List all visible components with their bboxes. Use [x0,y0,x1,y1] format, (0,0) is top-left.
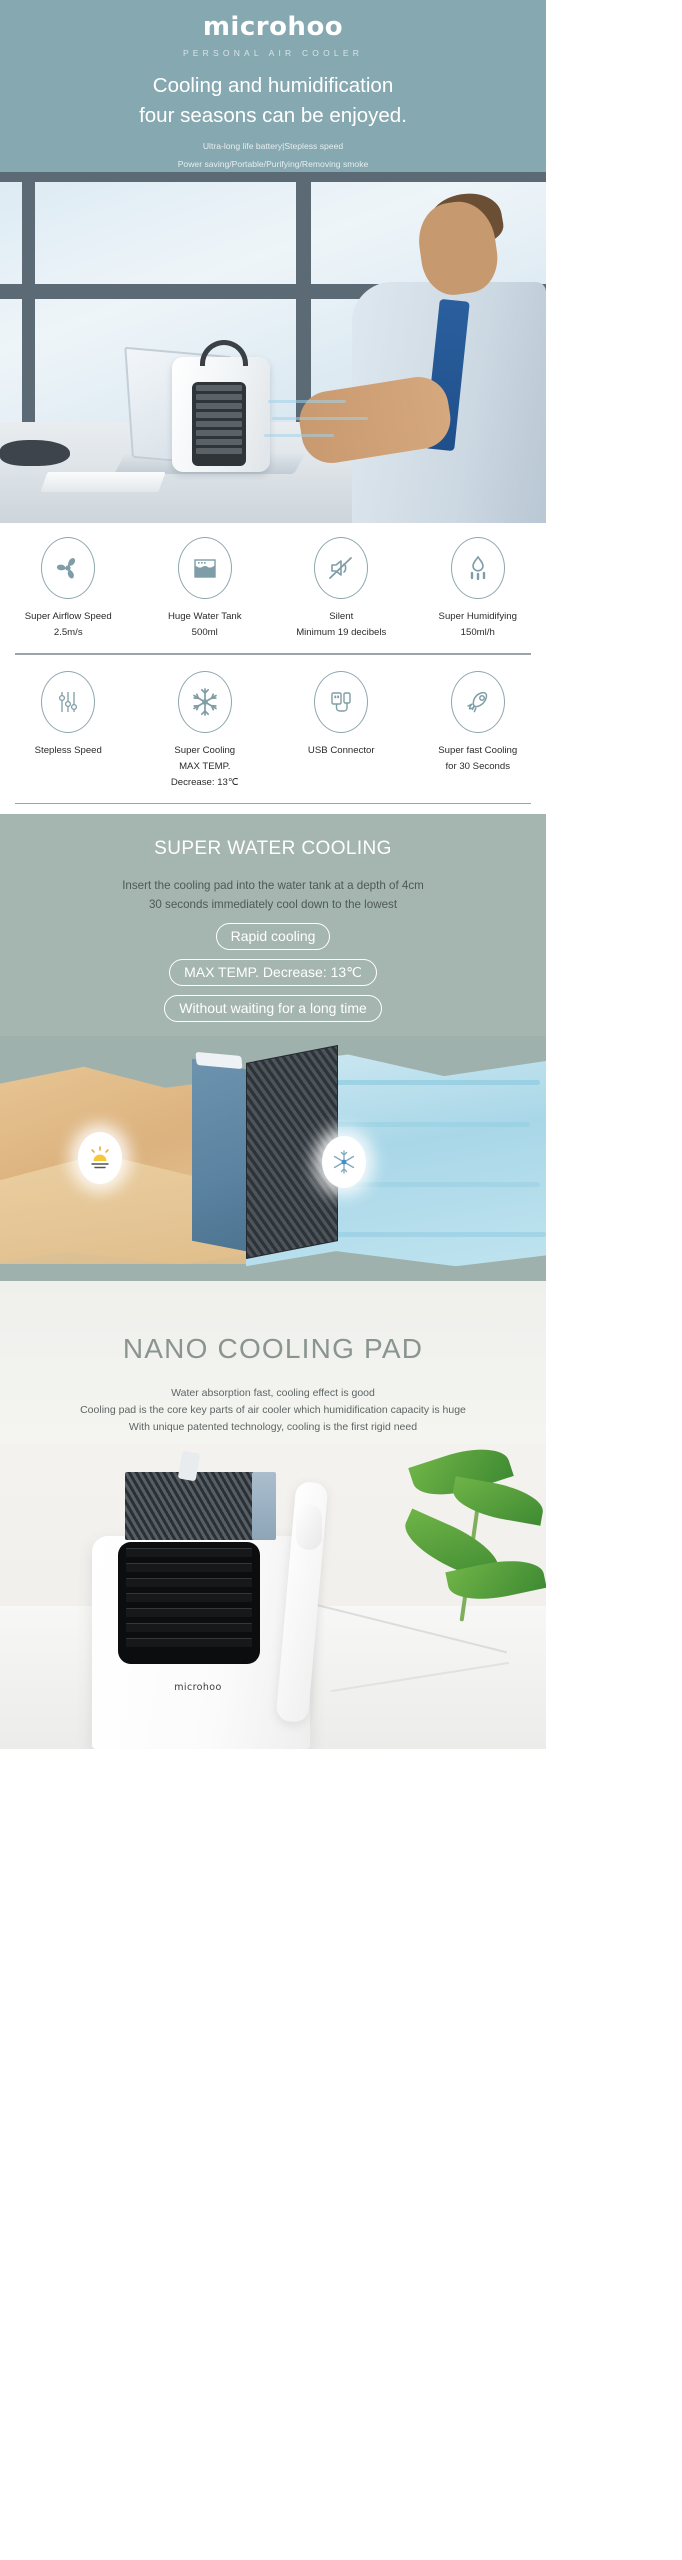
nano-desc-line1: Water absorption fast, cooling effect is… [0,1385,546,1402]
brand-logo: microhoo [0,10,546,44]
swc-pill: Without waiting for a long time [164,995,382,1022]
feature-sub: MAX TEMP. [137,759,274,775]
nano-desc-line2: Cooling pad is the core key parts of air… [0,1402,546,1419]
feature-divider [15,653,531,655]
feature-title: Silent [273,609,410,625]
feature-cell: Super fast Cooling for 30 Seconds [410,671,547,791]
humidity-icon [451,537,505,599]
swc-pill-list: Rapid cooling MAX TEMP. Decrease: 13℃ Wi… [0,914,546,1022]
feature-cell: Huge Water Tank 500ml [137,537,274,641]
feature-icon-grid: Super Airflow Speed 2.5m/s Huge Water Ta… [0,523,546,814]
swc-description: Insert the cooling pad into the water ta… [0,876,546,914]
air-cooler-knob [296,1504,322,1550]
water-tank-icon [178,537,232,599]
feature-row-2: Stepless Speed [0,671,546,791]
feature-sub: 500ml [137,625,274,641]
feature-cell: Super Airflow Speed 2.5m/s [0,537,137,641]
window-mullion-left [22,172,35,422]
hero-headline-line2: four seasons can be enjoyed. [0,101,546,131]
feature-title: Stepless Speed [0,743,137,759]
swc-title: SUPER WATER COOLING [0,836,546,862]
hero-headline: Cooling and humidification four seasons … [0,71,546,131]
product-detail-page: microhoo PERSONAL AIR COOLER Cooling and… [0,0,682,2560]
feature-cell: Super Cooling MAX TEMP. Decrease: 13℃ [137,671,274,791]
swc-desc-line2: 30 seconds immediately cool down to the … [0,895,546,914]
hero-subtext: Ultra-long life battery|Stepless speed P… [0,137,546,173]
office-lifestyle-photo [0,172,546,523]
nano-description: Water absorption fast, cooling effect is… [0,1385,546,1436]
feature-cell: Stepless Speed [0,671,137,791]
mute-icon [314,537,368,599]
feature-title: Huge Water Tank [137,609,274,625]
air-cooler-front-grille [118,1542,260,1664]
feature-title: Super Cooling [137,743,274,759]
rocket-icon [451,671,505,733]
hero-headline-line1: Cooling and humidification [0,71,546,101]
feature-sub: Minimum 19 decibels [273,625,410,641]
content-column: microhoo PERSONAL AIR COOLER Cooling and… [0,0,546,1749]
feature-sub: 2.5m/s [0,625,137,641]
airflow-line-1 [268,400,346,403]
snowflake-icon [178,671,232,733]
feature-sub2: for 30 Seconds [410,759,547,775]
feature-divider-bottom [15,803,531,805]
feature-sub2: Decrease: 13℃ [137,775,274,791]
product-logo: microhoo [148,1682,248,1693]
swc-desc-line1: Insert the cooling pad into the water ta… [0,876,546,895]
air-cooler-grille [192,382,246,466]
product-closeup-photo: microhoo [0,1444,546,1749]
feature-cell: Super Humidifying 150ml/h [410,537,547,641]
nano-cooling-pad-installed [125,1472,270,1540]
feature-title: USB Connector [273,743,410,759]
cooling-pad-illustration [0,1036,546,1281]
feature-title: Super Humidifying [410,609,547,625]
hero-banner: microhoo PERSONAL AIR COOLER Cooling and… [0,0,546,172]
hero-subtext-line2: Power saving/Portable/Purifying/Removing… [0,155,546,173]
feature-sub: 150ml/h [410,625,547,641]
swc-pill: MAX TEMP. Decrease: 13℃ [169,959,377,986]
super-water-cooling-section: SUPER WATER COOLING Insert the cooling p… [0,814,546,1036]
feature-cell: Silent Minimum 19 decibels [273,537,410,641]
airflow-line-2 [272,417,368,420]
window-mullion-mid [296,172,311,422]
plant-leaf-2 [450,1476,546,1525]
notebook-on-desk [40,472,165,492]
swc-pill: Rapid cooling [216,923,331,950]
sliders-icon [41,671,95,733]
hero-subtext-line1: Ultra-long life battery|Stepless speed [0,137,546,155]
feature-title: Super fast Cooling [410,743,547,759]
desk-object [0,440,70,466]
feature-title: Super Airflow Speed [0,609,137,625]
usb-icon [314,671,368,733]
fan-icon [41,537,95,599]
brand-tagline: PERSONAL AIR COOLER [0,47,546,59]
airflow-line-3 [264,434,334,437]
window-frame-top [0,172,546,182]
sun-heat-icon [78,1132,122,1184]
cooling-pad-side [192,1059,246,1251]
cooling-pad-edge [252,1472,276,1540]
nano-desc-line3: With unique patented technology, cooling… [0,1419,546,1436]
feature-row-1: Super Airflow Speed 2.5m/s Huge Water Ta… [0,537,546,641]
snowflake-cold-icon [322,1136,366,1188]
feature-cell: USB Connector [273,671,410,791]
nano-title: NANO COOLING PAD [0,1329,546,1369]
nano-cooling-pad-section: NANO COOLING PAD Water absorption fast, … [0,1281,546,1444]
